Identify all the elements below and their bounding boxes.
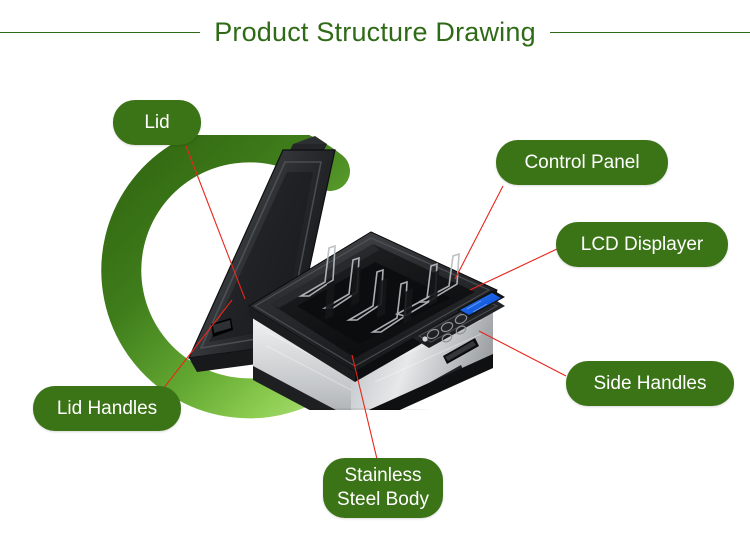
diagram-canvas: Product Structure Drawing (0, 0, 750, 543)
callout-lid[interactable]: Lid (113, 100, 201, 145)
callout-side-handles[interactable]: Side Handles (566, 361, 734, 406)
callout-lcd-displayer[interactable]: LCD Displayer (556, 222, 728, 267)
callout-stainless-steel-body-line1: Stainless (337, 464, 429, 488)
callout-stainless-steel-body[interactable]: Stainless Steel Body (323, 458, 443, 518)
callout-lid-handles-label: Lid Handles (57, 398, 157, 420)
product-illustration-icon (175, 120, 535, 410)
callout-control-panel[interactable]: Control Panel (496, 140, 668, 185)
callout-control-panel-label: Control Panel (524, 152, 639, 174)
callout-lid-handles[interactable]: Lid Handles (33, 386, 181, 431)
title-rule-left (0, 32, 200, 33)
callout-lcd-displayer-label: LCD Displayer (581, 234, 703, 256)
product-svg (175, 120, 535, 410)
page-title-row: Product Structure Drawing (0, 8, 750, 56)
callout-side-handles-label: Side Handles (593, 373, 706, 395)
callout-stainless-steel-body-line2: Steel Body (337, 488, 429, 512)
callout-lid-label: Lid (144, 112, 169, 134)
page-title: Product Structure Drawing (200, 17, 550, 48)
title-rule-right (550, 32, 750, 33)
